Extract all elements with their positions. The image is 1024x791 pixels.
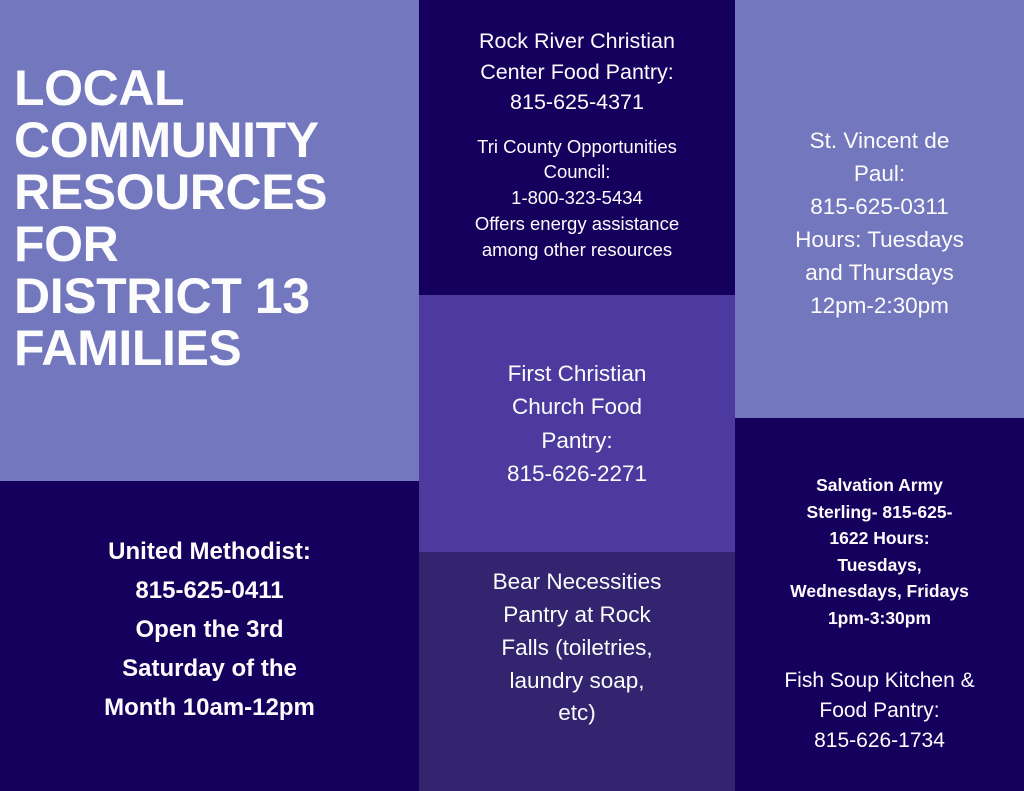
salvation-army-sterling-text: Salvation Army Sterling- 815-625- 1622 H… <box>749 418 1010 632</box>
resource-card-st-vincent-de-paul: St. Vincent de Paul: 815-625-0311 Hours:… <box>735 0 1024 418</box>
st-vincent-de-paul-text: St. Vincent de Paul: 815-625-0311 Hours:… <box>747 96 1012 322</box>
resource-card-bear-necessities: Bear Necessities Pantry at Rock Falls (t… <box>419 552 735 791</box>
bear-necessities-pantry-text: Bear Necessities Pantry at Rock Falls (t… <box>433 552 721 730</box>
tri-county-opportunities-council-text: Tri County Opportunities Council: 1-800-… <box>427 118 727 263</box>
resource-card-rock-river: Rock River Christian Center Food Pantry:… <box>419 0 735 295</box>
fish-soup-kitchen-food-pantry-text: Fish Soup Kitchen & Food Pantry: 815-626… <box>749 632 1010 757</box>
first-christian-church-food-pantry-text: First Christian Church Food Pantry: 815-… <box>435 357 719 489</box>
united-methodist-text: United Methodist: 815-625-0411 Open the … <box>30 481 389 727</box>
poster-headline: LOCAL COMMUNITY RESOURCES FOR DISTRICT 1… <box>0 0 419 481</box>
page-title: LOCAL COMMUNITY RESOURCES FOR DISTRICT 1… <box>14 0 405 374</box>
infographic-poster: LOCAL COMMUNITY RESOURCES FOR DISTRICT 1… <box>0 0 1024 791</box>
resource-card-salvation-army: Salvation Army Sterling- 815-625- 1622 H… <box>735 418 1024 791</box>
rock-river-christian-center-food-pantry-text: Rock River Christian Center Food Pantry:… <box>427 0 727 118</box>
resource-card-united-methodist: United Methodist: 815-625-0411 Open the … <box>0 481 419 791</box>
resource-card-first-christian-church: First Christian Church Food Pantry: 815-… <box>419 295 735 552</box>
